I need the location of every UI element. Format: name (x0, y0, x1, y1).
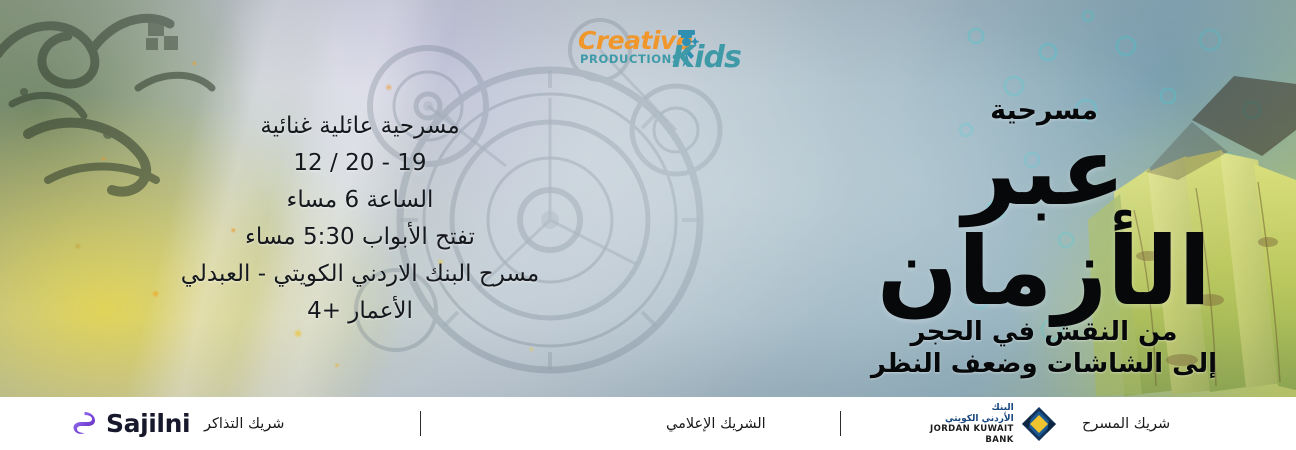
event-detail-genre: مسرحية عائلية غنائية (180, 108, 540, 145)
jkb-diamond-icon (1021, 406, 1057, 442)
media-partner-label-wrap: الشريك الإعلامي (666, 397, 766, 450)
event-detail-age-rating: الأعمار +4 (180, 293, 540, 330)
creative-kids-logo: Creative PRODUCTIONS Kids (578, 26, 738, 74)
event-banner: Creative PRODUCTIONS Kids مسرحية عائلية … (0, 0, 1296, 450)
event-detail-showtime: الساعة 6 مساء (180, 182, 540, 219)
sajilni-wordmark: Sajilni (106, 409, 190, 438)
jkb-arabic-line-1: البنك (930, 403, 1014, 414)
sajilni-logo[interactable]: Sajilni (72, 397, 190, 450)
event-detail-doors-open: تفتح الأبواب 5:30 مساء (180, 219, 540, 256)
partner-footer-bar: Sajilni شريك التذاكر روتانا KIDS R o y a… (0, 397, 1296, 450)
media-partner-label: الشريك الإعلامي (666, 416, 766, 432)
footer-divider-1 (420, 411, 421, 436)
show-title: عبر الأزمان (824, 122, 1264, 322)
event-detail-dates: 19 - 20 / 12 (180, 145, 540, 182)
ticket-partner-label-wrap: شريك التذاكر (204, 397, 284, 450)
event-details-block: مسرحية عائلية غنائية 19 - 20 / 12 الساعة… (180, 108, 540, 330)
event-detail-venue: مسرح البنك الاردني الكويتي - العبدلي (180, 256, 540, 293)
theatre-partner-label-wrap: شريك المسرح (1082, 397, 1170, 450)
jkb-arabic-line-2: الأردني الكويتي (930, 414, 1014, 425)
jkb-english-line-2: BANK (930, 435, 1014, 446)
jkb-english-line-1: JORDAN KUWAIT (930, 424, 1014, 435)
footer-divider-2 (840, 411, 841, 436)
show-title-block: مسرحية عبر الأزمان من النقش في الحجر إلى… (824, 96, 1264, 380)
jkb-wordmark: البنك الأردني الكويتي JORDAN KUWAIT BANK (930, 402, 1014, 445)
logo-kids-text: Kids (672, 40, 741, 75)
theatre-partner-label: شريك المسرح (1082, 416, 1170, 432)
sajilni-swirl-icon (72, 411, 97, 436)
show-subtitle-line-2: إلى الشاشات وضعف النظر (824, 348, 1264, 380)
ticket-partner-label: شريك التذاكر (204, 416, 284, 432)
jordan-kuwait-bank-logo[interactable]: البنك الأردني الكويتي JORDAN KUWAIT BANK (930, 397, 1057, 450)
logo-productions-text: PRODUCTIONS (580, 52, 681, 66)
